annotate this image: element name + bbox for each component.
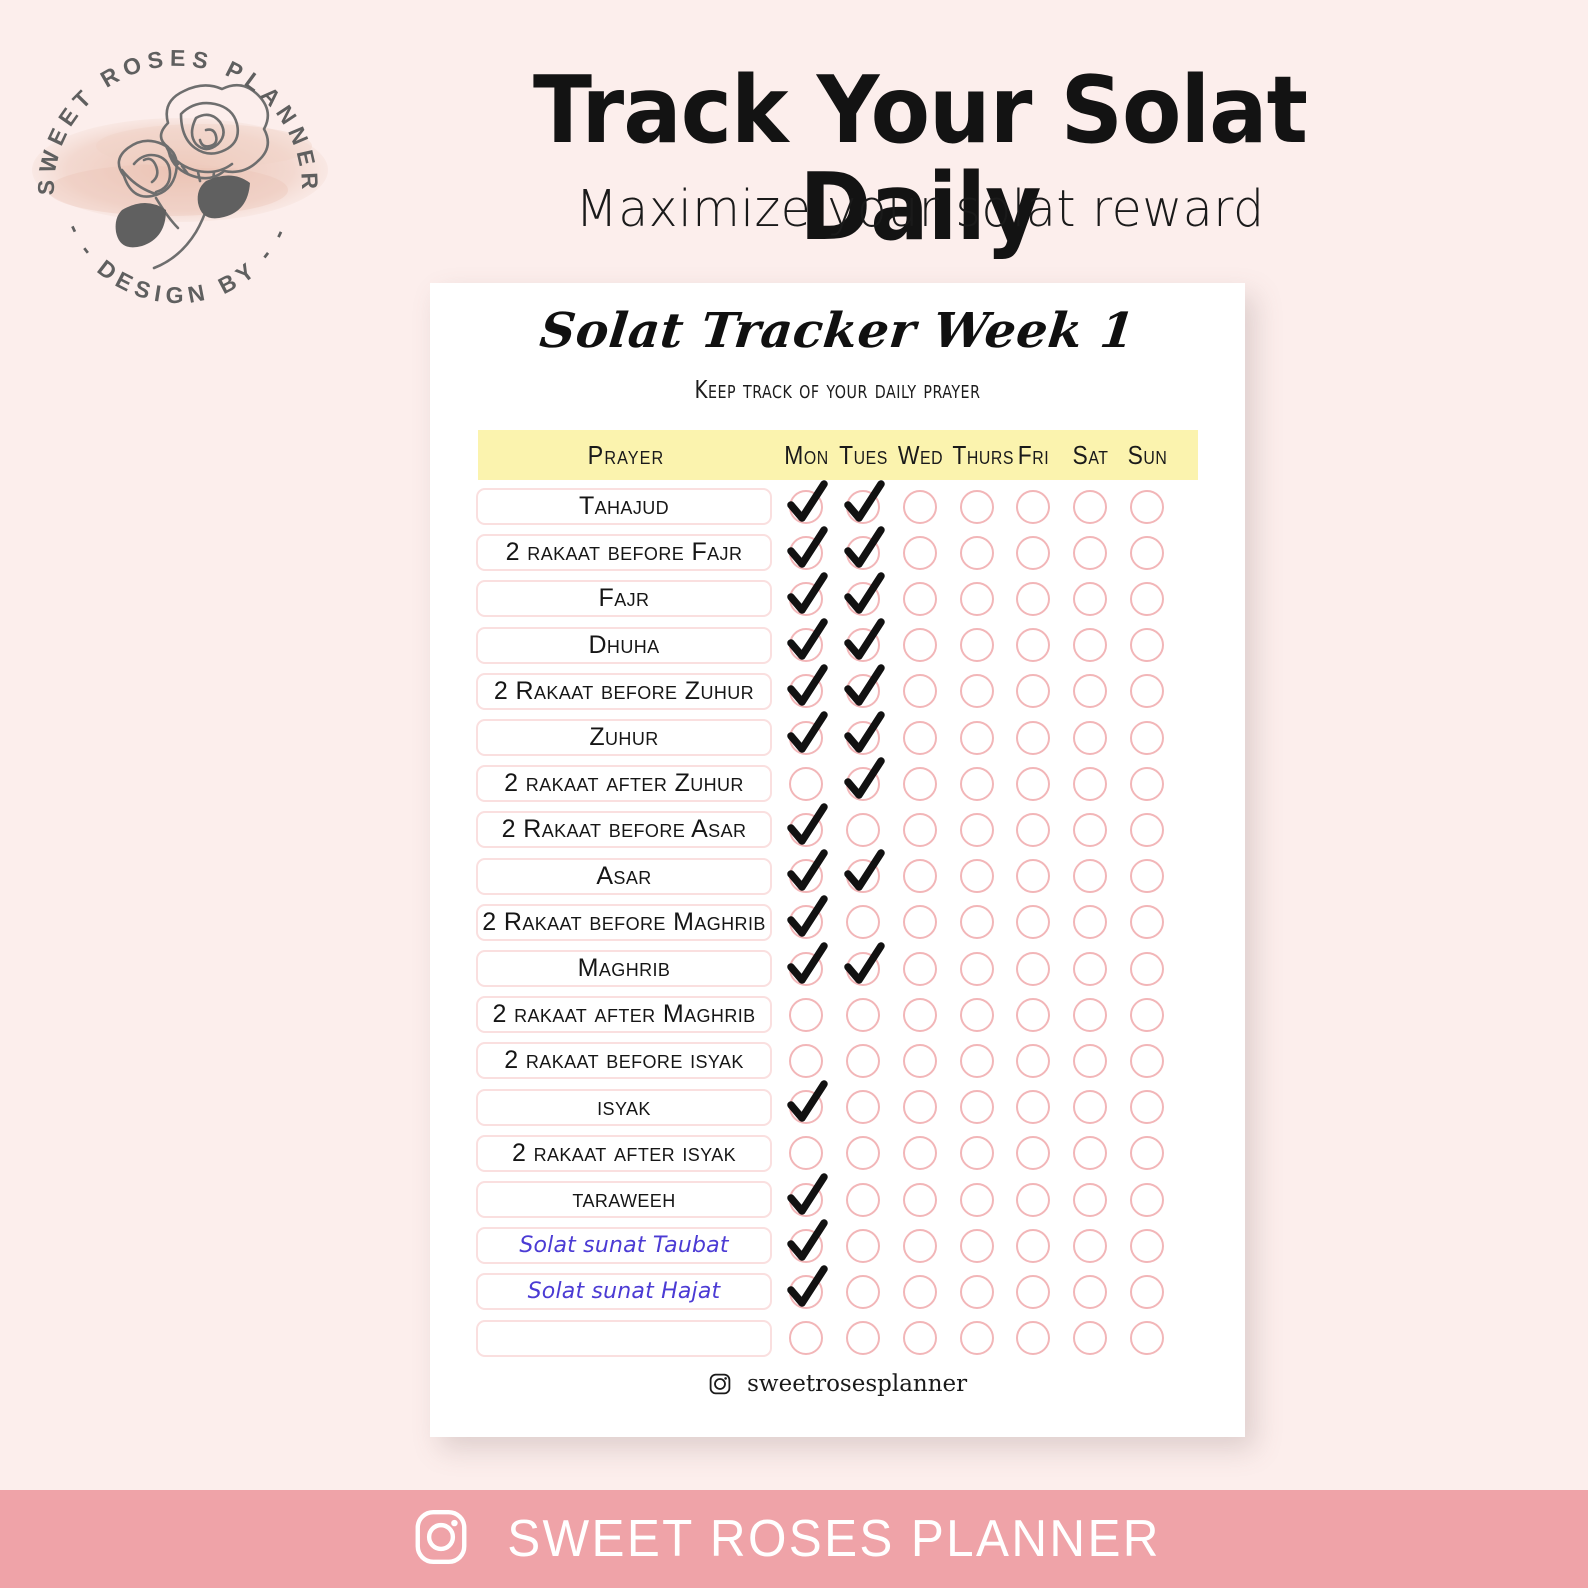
prayer-checkbox[interactable] [1073,582,1107,616]
prayer-checkbox[interactable] [960,582,994,616]
prayer-checkbox[interactable] [903,905,937,939]
prayer-checkbox[interactable] [1130,721,1164,755]
prayer-checkbox[interactable] [960,1229,994,1263]
column-header-fri: Fri [1008,430,1058,480]
prayer-checkbox[interactable] [960,813,994,847]
circle-outline-icon [846,905,880,939]
checkmark-icon [841,847,887,895]
circle-outline-icon [903,998,937,1032]
circle-outline-icon [1016,490,1050,524]
column-header-tues: Tues [838,430,888,480]
circle-outline-icon [1130,952,1164,986]
prayer-checkbox[interactable] [903,1183,937,1217]
prayer-checkbox[interactable] [789,998,823,1032]
prayer-checkbox[interactable] [1016,859,1050,893]
circle-outline-icon [846,813,880,847]
prayer-checkbox[interactable] [903,721,937,755]
circle-outline-icon [1073,1090,1107,1124]
prayer-row-label[interactable]: 2 rakaat before Fajr [476,534,772,571]
prayer-checkbox[interactable] [903,1136,937,1170]
tracker-title-text: Solat Tracker Week 1 [515,303,1160,359]
prayer-checkbox[interactable] [846,490,880,524]
circle-outline-icon [903,536,937,570]
prayer-row-label[interactable]: Fajr [476,580,772,617]
circle-outline-icon [1016,1229,1050,1263]
prayer-checkbox[interactable] [960,536,994,570]
prayer-checkbox[interactable] [903,1044,937,1078]
prayer-checkbox[interactable] [1073,721,1107,755]
circle-outline-icon [1130,1136,1164,1170]
prayer-checkbox[interactable] [960,628,994,662]
circle-outline-icon [1016,1044,1050,1078]
prayer-checkbox[interactable] [1130,952,1164,986]
solat-tracker-card: Solat Tracker Week 1 Keep track of your … [430,283,1245,1437]
prayer-checkbox[interactable] [1130,1183,1164,1217]
circle-outline-icon [960,1090,994,1124]
checkmark-icon [784,524,830,572]
prayer-checkbox[interactable] [846,1090,880,1124]
checkmark-icon [784,940,830,988]
prayer-checkbox[interactable] [1016,582,1050,616]
prayer-checkbox[interactable] [903,536,937,570]
circle-outline-icon [846,1136,880,1170]
prayer-checkbox[interactable] [960,1136,994,1170]
prayer-checkbox[interactable] [789,1044,823,1078]
circle-outline-icon [1130,582,1164,616]
circle-outline-icon [1130,1090,1164,1124]
circle-outline-icon [1016,952,1050,986]
prayer-checkbox[interactable] [903,998,937,1032]
prayer-checkbox[interactable] [1016,490,1050,524]
circle-outline-icon [960,859,994,893]
prayer-checkbox[interactable] [960,721,994,755]
prayer-checkbox[interactable] [903,859,937,893]
circle-outline-icon [846,1183,880,1217]
prayer-checkbox[interactable] [789,1136,823,1170]
prayer-checkbox[interactable] [1016,813,1050,847]
brand-banner: SWEET ROSES PLANNER [0,1490,1588,1588]
checkmark-icon [841,570,887,618]
prayer-row-label[interactable]: 2 Rakaat before Zuhur [476,673,772,710]
prayer-checkbox[interactable] [846,582,880,616]
instagram-icon [410,1506,472,1573]
checkmark-icon [784,847,830,895]
prayer-checkbox[interactable] [1016,952,1050,986]
prayer-checkbox[interactable] [789,767,823,801]
prayer-checkbox[interactable] [1016,767,1050,801]
circle-outline-icon [1073,813,1107,847]
prayer-row-label[interactable]: 2 rakaat after Maghrib [476,996,772,1033]
circle-outline-icon [1073,721,1107,755]
circle-outline-icon [846,1229,880,1263]
brand-logo: SWEET ROSES PLANNER - - DESIGN BY - - [18,18,338,338]
circle-outline-icon [1130,905,1164,939]
prayer-checkbox[interactable] [960,1183,994,1217]
prayer-checkbox[interactable] [1130,905,1164,939]
circle-outline-icon [1073,905,1107,939]
circle-outline-icon [789,1321,823,1355]
prayer-checkbox[interactable] [903,952,937,986]
circle-outline-icon [960,490,994,524]
prayer-checkbox[interactable] [1130,536,1164,570]
circle-outline-icon [1073,767,1107,801]
prayer-checkbox[interactable] [846,1321,880,1355]
checkmark-icon [784,662,830,710]
circle-outline-icon [960,952,994,986]
prayer-row-label[interactable]: Tahajud [476,488,772,525]
prayer-checkbox[interactable] [1130,1090,1164,1124]
prayer-checkbox[interactable] [789,952,823,986]
prayer-checkbox[interactable] [960,952,994,986]
prayer-checkbox[interactable] [1130,767,1164,801]
prayer-checkbox[interactable] [1073,1275,1107,1309]
circle-outline-icon [846,1275,880,1309]
circle-outline-icon [846,1090,880,1124]
circle-outline-icon [960,674,994,708]
prayer-row-label[interactable]: 2 rakaat after Zuhur [476,765,772,802]
prayer-checkbox[interactable] [1130,813,1164,847]
prayer-row-label[interactable]: 2 rakaat before isyak [476,1042,772,1079]
circle-outline-icon [846,1044,880,1078]
circle-outline-icon [903,1321,937,1355]
circle-outline-icon [1130,1275,1164,1309]
prayer-checkbox[interactable] [846,952,880,986]
prayer-checkbox[interactable] [1073,905,1107,939]
circle-outline-icon [960,1044,994,1078]
circle-outline-icon [1016,998,1050,1032]
circle-outline-icon [1130,1321,1164,1355]
prayer-checkbox[interactable] [1073,813,1107,847]
circle-outline-icon [903,859,937,893]
circle-outline-icon [903,1183,937,1217]
prayer-checkbox[interactable] [789,490,823,524]
circle-outline-icon [1016,536,1050,570]
prayer-checkbox[interactable] [789,628,823,662]
prayer-checkbox[interactable] [960,1275,994,1309]
circle-outline-icon [1016,813,1050,847]
prayer-checkbox[interactable] [903,674,937,708]
circle-outline-icon [1016,1321,1050,1355]
prayer-checkbox[interactable] [1016,998,1050,1032]
prayer-row-label[interactable]: isyak [476,1089,772,1126]
circle-outline-icon [1073,952,1107,986]
checkmark-icon [784,616,830,664]
circle-outline-icon [1016,767,1050,801]
circle-outline-icon [789,1044,823,1078]
circle-outline-icon [1016,1090,1050,1124]
prayer-checkbox[interactable] [1130,490,1164,524]
prayer-checkbox[interactable] [789,582,823,616]
checkmark-icon [841,616,887,664]
circle-outline-icon [1130,1044,1164,1078]
circle-outline-icon [1130,859,1164,893]
checkmark-icon [841,662,887,710]
checkmark-icon [784,893,830,941]
circle-outline-icon [789,767,823,801]
prayer-checkbox[interactable] [903,767,937,801]
circle-outline-icon [903,905,937,939]
circle-outline-icon [1130,674,1164,708]
page-subheadline: Maximize your solat reward [392,180,1448,239]
prayer-checkbox[interactable] [1073,1136,1107,1170]
prayer-checkbox[interactable] [846,628,880,662]
prayer-checkbox[interactable] [846,859,880,893]
circle-outline-icon [1016,905,1050,939]
prayer-checkbox[interactable] [846,536,880,570]
prayer-checkbox[interactable] [960,1090,994,1124]
circle-outline-icon [1130,490,1164,524]
prayer-checkbox[interactable] [960,490,994,524]
checkmark-icon [784,1217,830,1265]
prayer-checkbox[interactable] [1073,767,1107,801]
prayer-checkbox[interactable] [1130,1044,1164,1078]
prayer-checkbox[interactable] [1130,1136,1164,1170]
prayer-checkbox[interactable] [1130,859,1164,893]
prayer-checkbox[interactable] [1073,1090,1107,1124]
column-header-sun: Sun [1122,430,1172,480]
circle-outline-icon [1016,674,1050,708]
circle-outline-icon [960,1229,994,1263]
prayer-checkbox[interactable] [960,767,994,801]
prayer-checkbox[interactable] [846,721,880,755]
prayer-checkbox[interactable] [960,1044,994,1078]
prayer-checkbox[interactable] [846,767,880,801]
prayer-checkbox[interactable] [1130,674,1164,708]
prayer-row-label[interactable]: Solat sunat Taubat [476,1227,772,1264]
prayer-checkbox[interactable] [960,905,994,939]
circle-outline-icon [1073,998,1107,1032]
prayer-checkbox[interactable] [1016,721,1050,755]
circle-outline-icon [789,998,823,1032]
prayer-checkbox[interactable] [1073,998,1107,1032]
card-footer-handle: sweetrosesplanner [747,1371,967,1397]
prayer-checkbox[interactable] [903,628,937,662]
circle-outline-icon [1073,1136,1107,1170]
prayer-checkbox[interactable] [846,1136,880,1170]
prayer-checkbox[interactable] [903,490,937,524]
instagram-icon [708,1376,739,1402]
prayer-checkbox[interactable] [846,674,880,708]
circle-outline-icon [1073,859,1107,893]
circle-outline-icon [960,1275,994,1309]
circle-outline-icon [903,952,937,986]
column-header-thurs: Thurs [952,430,1002,480]
checkmark-icon [784,570,830,618]
circle-outline-icon [846,1321,880,1355]
prayer-checkbox[interactable] [846,1275,880,1309]
circle-outline-icon [1130,721,1164,755]
circle-outline-icon [1130,1229,1164,1263]
checkmark-icon [784,1263,830,1311]
prayer-checkbox[interactable] [846,905,880,939]
circle-outline-icon [789,1136,823,1170]
circle-outline-icon [903,628,937,662]
prayer-checkbox[interactable] [1130,998,1164,1032]
circle-outline-icon [903,1136,937,1170]
prayer-checkbox[interactable] [789,1183,823,1217]
column-header-wed: Wed [895,430,945,480]
prayer-checkbox[interactable] [789,1090,823,1124]
prayer-checkbox[interactable] [789,1229,823,1263]
prayer-row-label[interactable] [476,1320,772,1357]
prayer-row-label[interactable]: taraweeh [476,1181,772,1218]
prayer-checkbox[interactable] [1016,1090,1050,1124]
circle-outline-icon [1130,998,1164,1032]
logo-svg: SWEET ROSES PLANNER - - DESIGN BY - - [18,18,338,338]
prayer-checkbox[interactable] [1016,674,1050,708]
prayer-checkbox[interactable] [1130,1275,1164,1309]
circle-outline-icon [903,1044,937,1078]
checkmark-icon [784,478,830,526]
prayer-checkbox[interactable] [789,813,823,847]
checkmark-icon [841,709,887,757]
circle-outline-icon [960,813,994,847]
prayer-checkbox[interactable] [903,1321,937,1355]
circle-outline-icon [960,905,994,939]
prayer-row-label[interactable]: Asar [476,858,772,895]
circle-outline-icon [1073,1044,1107,1078]
prayer-row-label[interactable]: Dhuha [476,627,772,664]
circle-outline-icon [1073,1275,1107,1309]
checkmark-icon [784,1171,830,1219]
prayer-checkbox[interactable] [1016,1321,1050,1355]
circle-outline-icon [903,1275,937,1309]
prayer-checkbox[interactable] [1016,536,1050,570]
prayer-checkbox[interactable] [1016,905,1050,939]
circle-outline-icon [1130,536,1164,570]
checkmark-icon [784,1078,830,1126]
prayer-checkbox[interactable] [1130,582,1164,616]
circle-outline-icon [1073,674,1107,708]
circle-outline-icon [1073,490,1107,524]
checkmark-icon [841,940,887,988]
prayer-checkbox[interactable] [960,674,994,708]
column-header-mon: Mon [781,430,831,480]
prayer-checkbox[interactable] [960,998,994,1032]
prayer-checkbox[interactable] [846,813,880,847]
prayer-checkbox[interactable] [1130,1229,1164,1263]
prayer-checkbox[interactable] [903,813,937,847]
circle-outline-icon [903,490,937,524]
prayer-checkbox[interactable] [789,1275,823,1309]
prayer-row-label[interactable]: 2 Rakaat before Asar [476,811,772,848]
circle-outline-icon [1016,1136,1050,1170]
prayer-checkbox[interactable] [1130,628,1164,662]
prayer-checkbox[interactable] [846,998,880,1032]
prayer-row-label[interactable]: 2 rakaat after isyak [476,1135,772,1172]
circle-outline-icon [903,813,937,847]
prayer-checkbox[interactable] [789,721,823,755]
prayer-checkbox[interactable] [1073,1183,1107,1217]
checkmark-icon [841,524,887,572]
prayer-checkbox[interactable] [1016,1229,1050,1263]
prayer-checkbox[interactable] [846,1183,880,1217]
prayer-checkbox[interactable] [1073,1229,1107,1263]
prayer-checkbox[interactable] [1073,628,1107,662]
prayer-checkbox[interactable] [903,582,937,616]
circle-outline-icon [903,582,937,616]
prayer-checkbox[interactable] [1016,1136,1050,1170]
prayer-checkbox[interactable] [903,1229,937,1263]
circle-outline-icon [1073,1229,1107,1263]
circle-outline-icon [903,767,937,801]
prayer-checkbox[interactable] [789,1321,823,1355]
prayer-checkbox[interactable] [1073,859,1107,893]
prayer-row-label[interactable]: Maghrib [476,950,772,987]
circle-outline-icon [1073,1183,1107,1217]
circle-outline-icon [1130,1183,1164,1217]
logo-bottom-arc-text: - - DESIGN BY - - [62,219,294,308]
circle-outline-icon [1073,536,1107,570]
prayer-checkbox[interactable] [846,1229,880,1263]
prayer-checkbox[interactable] [1073,490,1107,524]
tracker-subtitle: Keep track of your daily prayer [479,375,1196,404]
prayer-checkbox[interactable] [1016,1275,1050,1309]
checkmark-icon [841,478,887,526]
prayer-checkbox[interactable] [903,1090,937,1124]
circle-outline-icon [960,628,994,662]
prayer-checkbox[interactable] [846,1044,880,1078]
circle-outline-icon [1016,859,1050,893]
prayer-checkbox[interactable] [789,536,823,570]
prayer-checkbox[interactable] [1016,628,1050,662]
circle-outline-icon [1130,813,1164,847]
prayer-checkbox[interactable] [960,1321,994,1355]
prayer-checkbox[interactable] [1073,536,1107,570]
prayer-checkbox[interactable] [903,1275,937,1309]
prayer-checkbox[interactable] [1073,952,1107,986]
prayer-checkbox[interactable] [1130,1321,1164,1355]
prayer-checkbox[interactable] [789,859,823,893]
circle-outline-icon [960,582,994,616]
checkmark-icon [784,709,830,757]
prayer-checkbox[interactable] [1073,674,1107,708]
prayer-checkbox[interactable] [960,859,994,893]
card-footer: sweetrosesplanner [430,1371,1245,1402]
circle-outline-icon [960,1183,994,1217]
tracker-title: Solat Tracker Week 1 [430,303,1245,359]
column-header-prayer: Prayer [493,430,759,480]
column-header-sat: Sat [1065,430,1115,480]
circle-outline-icon [903,1229,937,1263]
circle-outline-icon [846,998,880,1032]
prayer-row-label[interactable]: Zuhur [476,719,772,756]
circle-outline-icon [1130,767,1164,801]
circle-outline-icon [960,998,994,1032]
prayer-row-label[interactable]: Solat sunat Hajat [476,1273,772,1310]
circle-outline-icon [1073,628,1107,662]
checkmark-icon [841,755,887,803]
circle-outline-icon [1016,1275,1050,1309]
prayer-checkbox[interactable] [1016,1183,1050,1217]
circle-outline-icon [960,721,994,755]
circle-outline-icon [960,1136,994,1170]
circle-outline-icon [1130,628,1164,662]
circle-outline-icon [1073,582,1107,616]
prayer-checkbox[interactable] [789,674,823,708]
prayer-checkbox[interactable] [1073,1321,1107,1355]
prayer-checkbox[interactable] [1016,1044,1050,1078]
circle-outline-icon [903,1090,937,1124]
prayer-checkbox[interactable] [789,905,823,939]
circle-outline-icon [1016,721,1050,755]
circle-outline-icon [903,674,937,708]
banner-text: SWEET ROSES PLANNER [507,1509,1161,1569]
circle-outline-icon [960,536,994,570]
prayer-checkbox[interactable] [1073,1044,1107,1078]
circle-outline-icon [1016,628,1050,662]
prayer-row-label[interactable]: 2 Rakaat before Maghrib [476,904,772,941]
